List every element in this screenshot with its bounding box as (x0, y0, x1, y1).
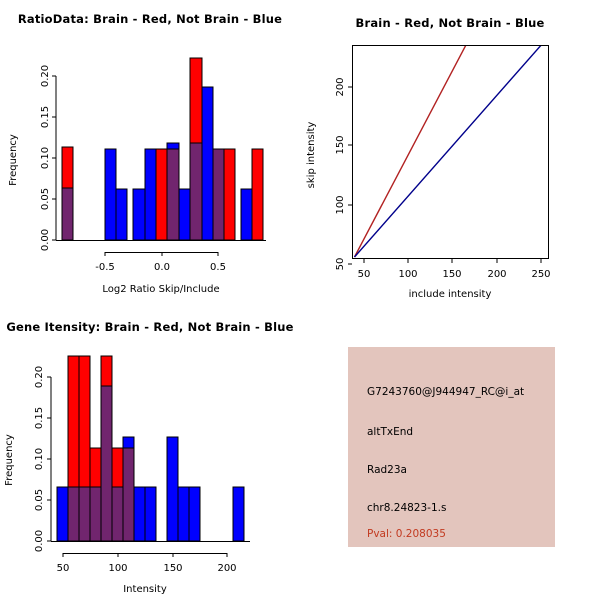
ratio-xtick-2: 0.5 (210, 262, 226, 273)
gene-xtick-0: 50 (57, 563, 70, 574)
ratio-x-axis-label: Log2 Ratio Skip/Include (102, 284, 219, 295)
bar-blue (105, 149, 116, 240)
scatter-ytick-0: 50 (335, 258, 346, 271)
gene-x-axis-label: Intensity (123, 584, 167, 595)
ratio-y-axis-label: Frequency (8, 134, 19, 186)
pval-text: Pval: 0.208035 (367, 528, 446, 540)
bar-overlap (123, 448, 134, 541)
ratio-histogram-svg: 0.00 0.05 0.10 0.15 0.20 Frequency -0.5 … (0, 0, 300, 300)
event-type-text: altTxEnd (367, 426, 413, 438)
bar-blue (116, 189, 127, 240)
ratio-ytick-2: 0.10 (40, 147, 51, 169)
bar-overlap (190, 143, 202, 240)
gene-ytick-0: 0.00 (34, 530, 45, 552)
gene-xtick-1: 100 (108, 563, 127, 574)
ratio-x-axis (105, 252, 218, 256)
gene-ytick-1: 0.05 (34, 489, 45, 511)
bar-blue (167, 143, 179, 149)
scatter-ytick-1: 100 (335, 195, 346, 214)
scatter-ytick-2: 150 (335, 135, 346, 154)
bar-overlap (101, 386, 112, 541)
bar-blue (133, 189, 145, 240)
ratio-histogram-panel: RatioData: Brain - Red, Not Brain - Blue (0, 0, 300, 300)
gene-ytick-4: 0.20 (34, 366, 45, 388)
bar-blue (145, 487, 156, 541)
bar-overlap (90, 487, 101, 541)
scatter-y-axis (348, 87, 352, 264)
ratio-bars (62, 58, 263, 240)
bar-red (252, 149, 263, 240)
bar-blue (134, 487, 145, 541)
bar-blue (123, 437, 134, 448)
bar-blue (233, 487, 244, 541)
gene-ytick-2: 0.10 (34, 448, 45, 470)
ratio-y-axis (52, 76, 56, 240)
bar-blue (202, 87, 213, 240)
scatter-xtick-0: 50 (358, 269, 371, 280)
gene-y-axis (47, 377, 51, 541)
bar-red (224, 149, 235, 240)
scatter-xtick-2: 150 (442, 269, 461, 280)
bar-blue (189, 487, 200, 541)
bar-overlap (68, 487, 79, 541)
gene-xtick-2: 150 (163, 563, 182, 574)
gene-bars (57, 356, 244, 541)
bar-overlap (167, 149, 179, 240)
gene-xtick-3: 200 (217, 563, 236, 574)
bar-overlap (79, 487, 90, 541)
intensity-scatter-panel: Brain - Red, Not Brain - Blue (300, 0, 600, 300)
bar-blue (178, 487, 189, 541)
ratio-ytick-1: 0.05 (40, 188, 51, 210)
gene-y-axis-label: Frequency (4, 434, 15, 486)
bar-blue (241, 189, 252, 240)
bar-blue (57, 487, 68, 541)
scatter-fit-lines (355, 43, 544, 257)
gene-info-box: G7243760@J944947_RC@i_at altTxEnd Rad23a… (348, 347, 555, 547)
scatter-y-axis-label: skip intensity (306, 122, 317, 189)
gene-x-axis (63, 553, 227, 557)
gene-info-panel: G7243760@J944947_RC@i_at altTxEnd Rad23a… (300, 300, 600, 600)
ratio-xtick-1: 0.0 (154, 262, 170, 273)
bar-red (156, 149, 167, 240)
bar-blue (167, 437, 178, 541)
gene-intensity-panel: Gene Itensity: Brain - Red, Not Brain - … (0, 300, 300, 600)
bar-overlap (112, 487, 123, 541)
scatter-x-axis (364, 259, 541, 263)
bar-overlap (62, 188, 73, 240)
scatter-xtick-4: 250 (531, 269, 550, 280)
fit-line-blue (355, 43, 544, 257)
ratio-ytick-4: 0.20 (40, 65, 51, 87)
gene-ytick-3: 0.15 (34, 407, 45, 429)
ratio-ytick-3: 0.15 (40, 106, 51, 128)
ratio-ytick-0: 0.00 (40, 229, 51, 251)
scatter-x-axis-label: include intensity (409, 289, 492, 300)
locus-text: chr8.24823-1.s (367, 502, 446, 514)
ratio-xtick-0: -0.5 (95, 262, 115, 273)
bar-blue (145, 149, 156, 240)
bar-blue (179, 189, 190, 240)
scatter-xtick-1: 100 (398, 269, 417, 280)
bar-overlap (213, 149, 224, 240)
scatter-ytick-3: 200 (335, 77, 346, 96)
intensity-scatter-svg: 50 100 150 200 skip intensity 50 100 150… (300, 0, 600, 300)
gene-symbol-text: Rad23a (367, 464, 407, 476)
gene-histogram-svg: 0.00 0.05 0.10 0.15 0.20 Frequency 50 10… (0, 300, 300, 600)
probe-id-text: G7243760@J944947_RC@i_at (367, 386, 524, 398)
scatter-xtick-3: 200 (487, 269, 506, 280)
fit-line-red (355, 43, 468, 257)
